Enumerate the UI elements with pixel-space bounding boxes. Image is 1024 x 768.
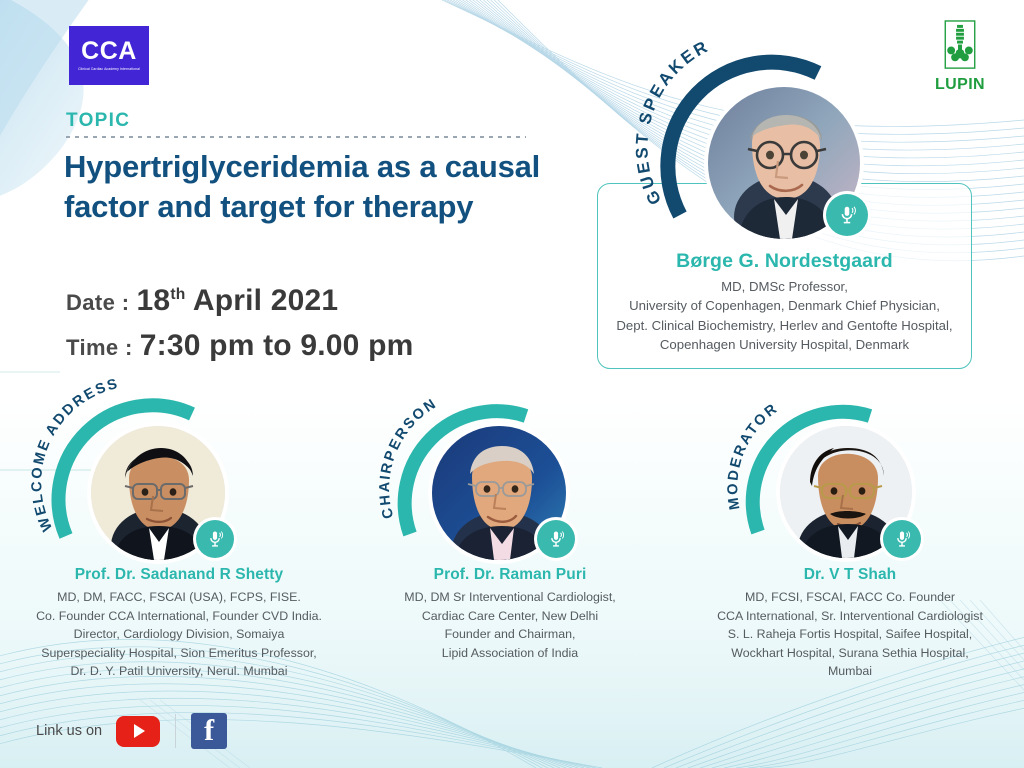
- date-label: Date :: [66, 290, 130, 316]
- facebook-icon[interactable]: f: [191, 713, 227, 749]
- speaker-3-mic-badge: [883, 520, 921, 558]
- time-value: 7:30 pm to 9.00 pm: [140, 329, 414, 363]
- microphone-icon: [205, 529, 225, 549]
- page-title: Hypertriglyceridemia as a causal factor …: [64, 147, 564, 226]
- speaker-1-name: Prof. Dr. Sadanand R Shetty: [14, 566, 344, 584]
- speaker-1-avatar-group: WELCOME ADDRESS: [48, 398, 268, 573]
- time-label: Time :: [66, 335, 133, 361]
- microphone-icon: [836, 204, 858, 226]
- guest-speaker-details: Børge G. Nordestgaard MD, DMSc Professor…: [597, 250, 972, 355]
- speaker-1-bio: MD, DM, FACC, FSCAI (USA), FCPS, FISE. C…: [14, 588, 344, 681]
- footer-divider: [175, 714, 176, 748]
- lupin-plant-icon: [935, 20, 985, 75]
- speaker-2-mic-badge: [537, 520, 575, 558]
- speaker-2-avatar-group: CHAIRPERSON: [392, 400, 602, 572]
- guest-speaker-mic-badge: [826, 194, 868, 236]
- speaker-2-bio: MD, DM Sr Interventional Cardiologist, C…: [355, 588, 665, 662]
- date-row: Date : 18th April 2021: [66, 284, 414, 318]
- topic-divider: [66, 136, 526, 138]
- footer-social: Link us on f: [36, 713, 227, 749]
- date-value: 18th April 2021: [137, 284, 339, 318]
- speaker-2-details: Prof. Dr. Raman Puri MD, DM Sr Intervent…: [355, 566, 665, 662]
- lupin-logo-text: LUPIN: [935, 76, 985, 94]
- footer-label: Link us on: [36, 723, 102, 739]
- schedule: Date : 18th April 2021 Time : 7:30 pm to…: [66, 284, 414, 374]
- topic-label: TOPIC: [66, 110, 130, 132]
- guest-speaker-name: Børge G. Nordestgaard: [597, 250, 972, 273]
- speaker-1-details: Prof. Dr. Sadanand R Shetty MD, DM, FACC…: [14, 566, 344, 681]
- youtube-play-glyph: [134, 724, 145, 738]
- cca-logo-subtitle: Clinical Cardiac Academy International: [78, 67, 140, 72]
- youtube-icon[interactable]: [116, 716, 160, 747]
- speaker-3-details: Dr. V T Shah MD, FCSI, FSCAI, FACC Co. F…: [685, 566, 1015, 681]
- speaker-1-mic-badge: [196, 520, 234, 558]
- cca-logo: CCA Clinical Cardiac Academy Internation…: [69, 26, 149, 85]
- speaker-3-name: Dr. V T Shah: [685, 566, 1015, 584]
- lupin-logo: LUPIN: [928, 20, 992, 94]
- speaker-2-name: Prof. Dr. Raman Puri: [355, 566, 665, 584]
- speaker-3-bio: MD, FCSI, FSCAI, FACC Co. Founder CCA In…: [685, 588, 1015, 681]
- date-rest: April 2021: [185, 284, 338, 317]
- cca-logo-text: CCA: [81, 39, 137, 64]
- speaker-3-avatar-group: MODERATOR: [742, 402, 952, 572]
- webinar-poster: CCA Clinical Cardiac Academy Internation…: [0, 0, 1024, 768]
- microphone-icon: [546, 529, 566, 549]
- microphone-icon: [892, 529, 912, 549]
- date-ordinal: th: [170, 286, 185, 303]
- guest-speaker-avatar-group: GUEST SPEAKER: [660, 55, 880, 255]
- guest-speaker-bio: MD, DMSc Professor, University of Copenh…: [597, 277, 972, 355]
- date-day: 18: [137, 284, 171, 317]
- time-row: Time : 7:30 pm to 9.00 pm: [66, 329, 414, 363]
